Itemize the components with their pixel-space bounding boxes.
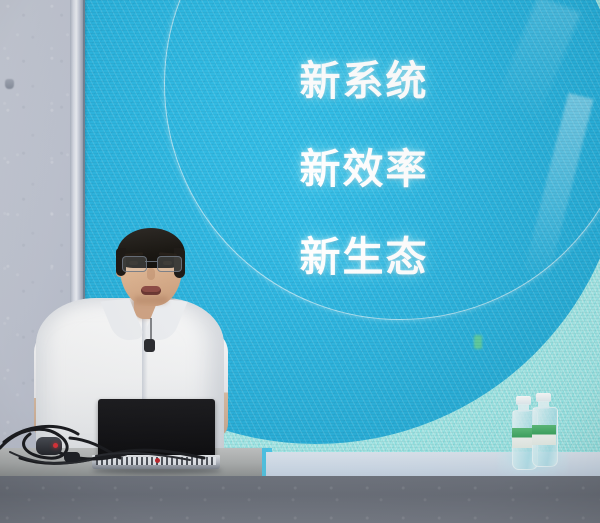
av-adapter xyxy=(36,437,62,455)
glasses-bridge xyxy=(145,261,157,262)
screenshot-frame: 新系统 新效率 新生态 xyxy=(0,0,600,523)
chin-shadow xyxy=(134,296,168,304)
nose xyxy=(147,268,155,280)
adapter-led-icon xyxy=(53,443,58,448)
lapel-microphone-icon xyxy=(144,339,155,352)
glasses-lens-left xyxy=(122,256,147,272)
wall-sensor-icon xyxy=(5,79,14,89)
glasses-lens-right xyxy=(157,256,182,272)
av-adapter-secondary xyxy=(64,452,80,462)
bottle-label xyxy=(532,425,556,445)
mouth xyxy=(141,286,161,295)
floor-texture xyxy=(0,476,600,523)
